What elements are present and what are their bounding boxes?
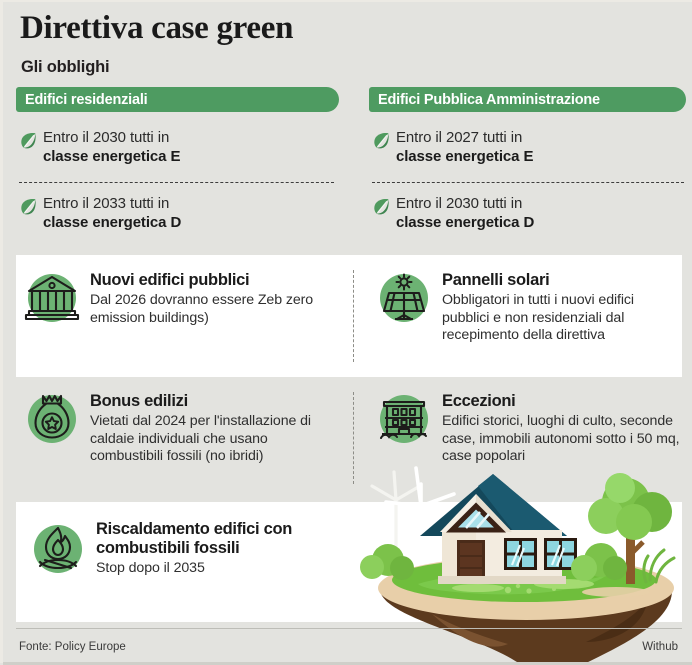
info-block-pannelli-solari: Pannelli solari Obbligatori in tutti i n… — [373, 267, 683, 345]
divider-dashed-vertical-2 — [353, 392, 354, 484]
info-text: Stop dopo il 2035 — [96, 560, 357, 578]
footer-source: Fonte: Policy Europe — [19, 641, 126, 653]
campfire-icon — [27, 518, 89, 580]
banner-edifici-residenziali: Edifici residenziali — [16, 87, 339, 112]
info-title: Bonus edilizi — [90, 392, 341, 411]
obligation-line1: Entro il 2033 tutti in — [43, 195, 169, 212]
divider-dashed-left — [19, 182, 334, 183]
infographic-root: Direttiva case green Gli obblighi Edific… — [0, 0, 692, 663]
info-block-eccezioni: Eccezioni Edifici storici, luoghi di cul… — [373, 388, 683, 466]
info-block-bonus-edilizi: Bonus edilizi Vietati dal 2024 per l'ins… — [21, 388, 341, 466]
obligation-line1: Entro il 2030 tutti in — [396, 195, 522, 212]
info-body: Pannelli solari Obbligatori in tutti i n… — [435, 267, 683, 345]
info-title: Nuovi edifici pubblici — [90, 271, 341, 290]
info-block-nuovi-edifici-pubblici: Nuovi edifici pubblici Dal 2026 dovranno… — [21, 267, 341, 329]
info-body: Riscaldamento edifici con combustibili f… — [89, 518, 357, 578]
leaf-icon — [370, 128, 396, 157]
footer-divider — [16, 628, 682, 629]
obligation-line1: Entro il 2030 tutti in — [43, 129, 169, 146]
info-text: Dal 2026 dovranno essere Zeb zero emissi… — [90, 292, 341, 327]
money-bag-icon — [21, 388, 83, 450]
leaf-icon — [370, 194, 396, 223]
footer-brand: Withub — [642, 641, 678, 653]
info-body: Bonus edilizi Vietati dal 2024 per l'ins… — [83, 388, 341, 466]
obligation-row-pa-1: Entro il 2027 tutti in classe energetica… — [370, 128, 533, 166]
obligation-row-residenziali-1: Entro il 2030 tutti in classe energetica… — [17, 128, 180, 166]
page-title: Direttiva case green — [20, 10, 293, 47]
bank-building-icon — [21, 267, 83, 329]
obligation-line2: classe energetica D — [396, 214, 534, 231]
info-title: Riscaldamento edifici con combustibili f… — [96, 520, 357, 558]
historic-building-icon — [373, 388, 435, 450]
obligation-row-residenziali-2: Entro il 2033 tutti in classe energetica… — [17, 194, 181, 232]
divider-dashed-vertical-1 — [353, 270, 354, 362]
info-block-riscaldamento: Riscaldamento edifici con combustibili f… — [27, 518, 357, 580]
info-text: Obbligatori in tutti i nuovi edifici pub… — [442, 292, 683, 345]
banner-edifici-pubblica-amministrazione: Edifici Pubblica Amministrazione — [369, 87, 686, 112]
info-body: Nuovi edifici pubblici Dal 2026 dovranno… — [83, 267, 341, 327]
obligation-text: Entro il 2030 tutti in classe energetica… — [396, 194, 534, 232]
info-title: Eccezioni — [442, 392, 683, 411]
info-text: Vietati dal 2024 per l'installazione di … — [90, 413, 341, 466]
info-body: Eccezioni Edifici storici, luoghi di cul… — [435, 388, 683, 466]
info-text: Edifici storici, luoghi di culto, second… — [442, 413, 683, 466]
info-title: Pannelli solari — [442, 271, 683, 290]
leaf-icon — [17, 194, 43, 223]
obligation-line2: classe energetica E — [396, 148, 533, 165]
page-subtitle: Gli obblighi — [21, 58, 109, 77]
obligation-text: Entro il 2033 tutti in classe energetica… — [43, 194, 181, 232]
obligation-line2: classe energetica D — [43, 214, 181, 231]
solar-panel-icon — [373, 267, 435, 329]
obligation-line2: classe energetica E — [43, 148, 180, 165]
obligation-row-pa-2: Entro il 2030 tutti in classe energetica… — [370, 194, 534, 232]
obligation-text: Entro il 2030 tutti in classe energetica… — [43, 128, 180, 166]
obligation-text: Entro il 2027 tutti in classe energetica… — [396, 128, 533, 166]
divider-dashed-right — [372, 182, 684, 183]
obligation-line1: Entro il 2027 tutti in — [396, 129, 522, 146]
leaf-icon — [17, 128, 43, 157]
